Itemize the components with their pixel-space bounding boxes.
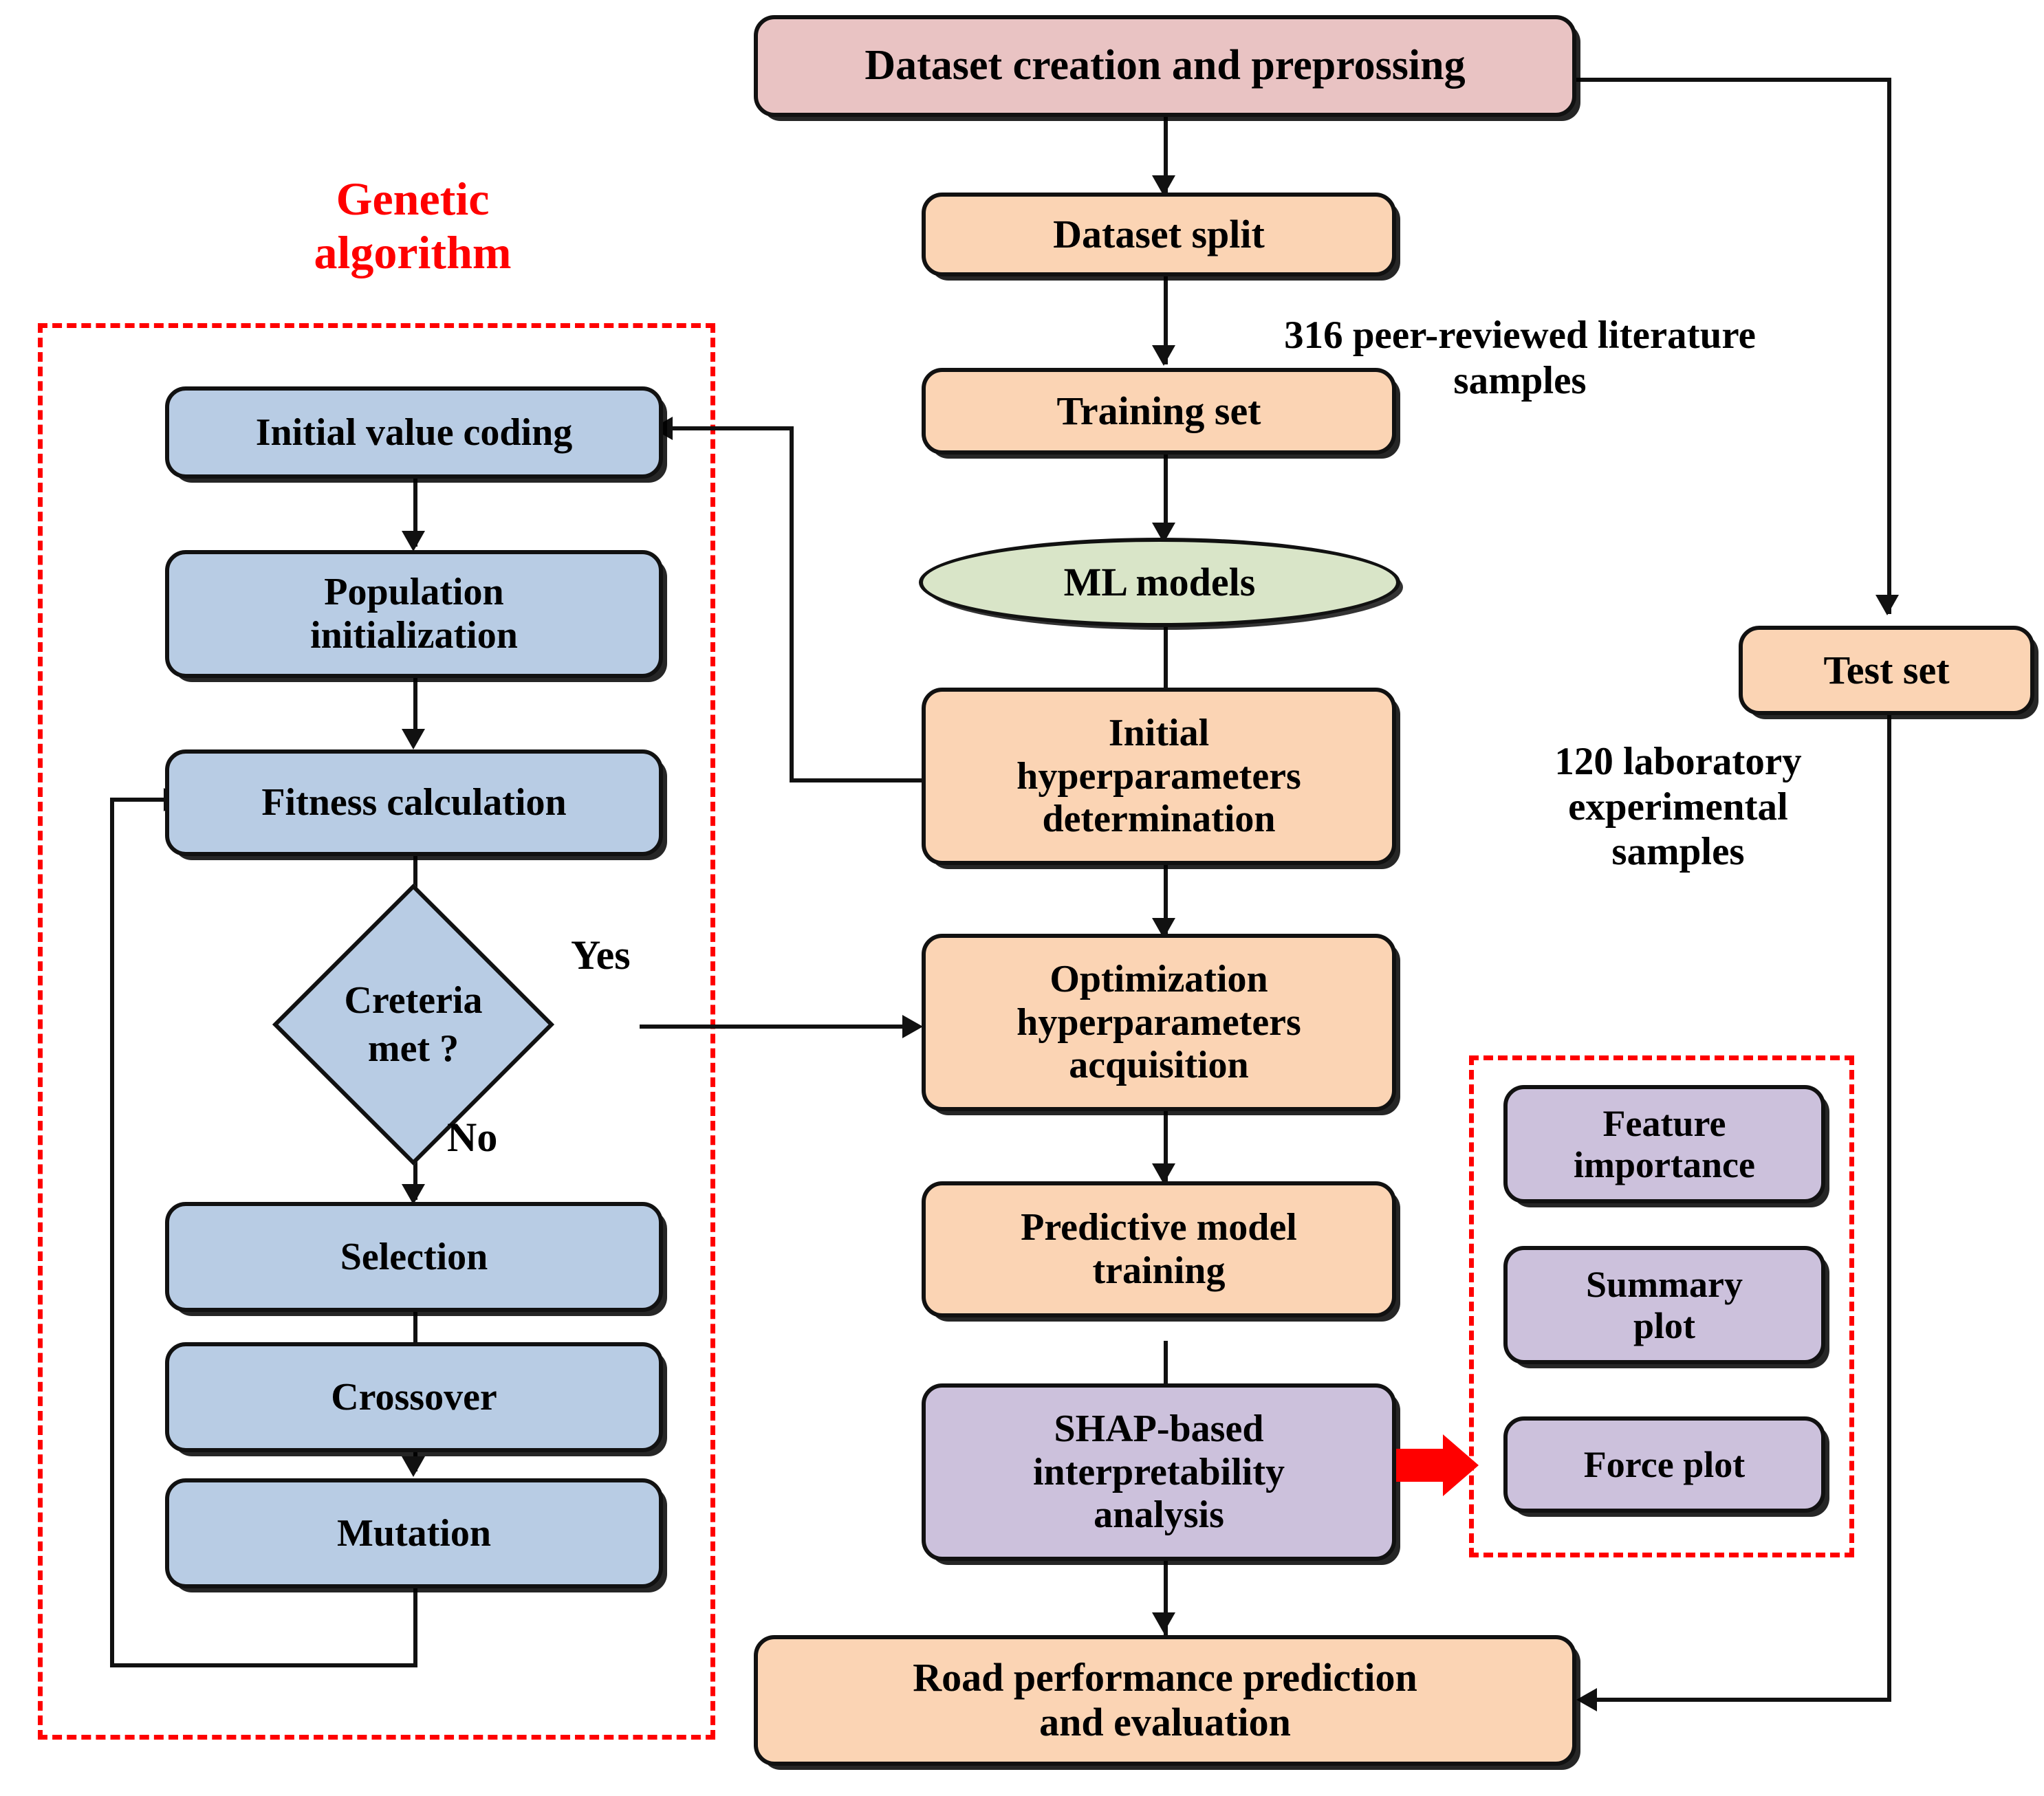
red-block-arrow-icon <box>1396 1434 1486 1497</box>
node-road-performance[interactable]: Road performance prediction and evaluati… <box>754 1635 1576 1766</box>
node-dataset-creation[interactable]: Dataset creation and preprossing <box>754 15 1576 117</box>
connector-into-coding <box>671 426 793 430</box>
arrowhead-yes-to-optimization <box>902 1015 923 1038</box>
node-optimization-hyperparameters[interactable]: Optimization hyperparameters acquisition <box>922 934 1396 1111</box>
criteria-met-label: Creteria met ? <box>171 925 656 1124</box>
node-crossover[interactable]: Crossover <box>165 1342 663 1452</box>
arrowhead-test-to-road <box>1576 1688 1597 1711</box>
node-summary-plot[interactable]: Summary plot <box>1503 1246 1825 1364</box>
connector-test-down <box>1887 715 1891 1700</box>
arrowhead-split-to-training <box>1152 345 1175 366</box>
arrowhead-shap-to-road <box>1152 1612 1175 1633</box>
arrowhead-to-test-set <box>1876 595 1899 615</box>
red-arrow-head <box>1443 1434 1479 1496</box>
node-force-plot[interactable]: Force plot <box>1503 1416 1825 1513</box>
connector-test-to-road <box>1596 1698 1891 1702</box>
connector-mutation-left <box>110 1663 417 1667</box>
connector-left-up-to-coding <box>790 426 794 782</box>
connector-loop-into-fitness <box>110 798 172 802</box>
node-criteria-met[interactable]: Creteria met ? <box>171 925 656 1124</box>
flowchart-canvas: Dataset creation and preprossing Dataset… <box>0 0 2044 1796</box>
node-test-set[interactable]: Test set <box>1739 626 2034 715</box>
node-selection[interactable]: Selection <box>165 1202 663 1312</box>
connector-loop-up-to-fitness <box>110 798 114 1667</box>
arrowhead-crossover-to-mutation <box>402 1456 425 1477</box>
node-fitness-calculation[interactable]: Fitness calculation <box>165 749 663 856</box>
node-population-initialization[interactable]: Population initialization <box>165 550 663 678</box>
node-predictive-model-training[interactable]: Predictive model training <box>922 1181 1396 1317</box>
arrowhead-population-to-fitness <box>402 729 425 749</box>
node-ml-models[interactable]: ML models <box>919 538 1400 627</box>
arrowhead-coding-to-population <box>402 531 425 551</box>
label-laboratory-samples: 120 laboratory experimental samples <box>1499 739 1857 875</box>
connector-right-down-to-test <box>1887 78 1891 614</box>
label-genetic-algorithm: Genetic algorithm <box>172 172 653 279</box>
node-shap-analysis[interactable]: SHAP-based interpretability analysis <box>922 1383 1396 1561</box>
label-literature-samples: 316 peer-reviewed literature samples <box>1190 313 1850 403</box>
node-initial-hyperparameters[interactable]: Initial hyperparameters determination <box>922 688 1396 865</box>
node-dataset-split[interactable]: Dataset split <box>922 193 1396 276</box>
connector-creation-to-right <box>1575 78 1891 82</box>
node-feature-importance[interactable]: Feature importance <box>1503 1085 1825 1203</box>
connector-initialhyper-to-left <box>790 778 927 782</box>
node-initial-value-coding[interactable]: Initial value coding <box>165 386 663 479</box>
connector-yes-to-optimization <box>640 1025 915 1029</box>
node-mutation[interactable]: Mutation <box>165 1478 663 1588</box>
red-arrow-shaft <box>1396 1449 1446 1482</box>
